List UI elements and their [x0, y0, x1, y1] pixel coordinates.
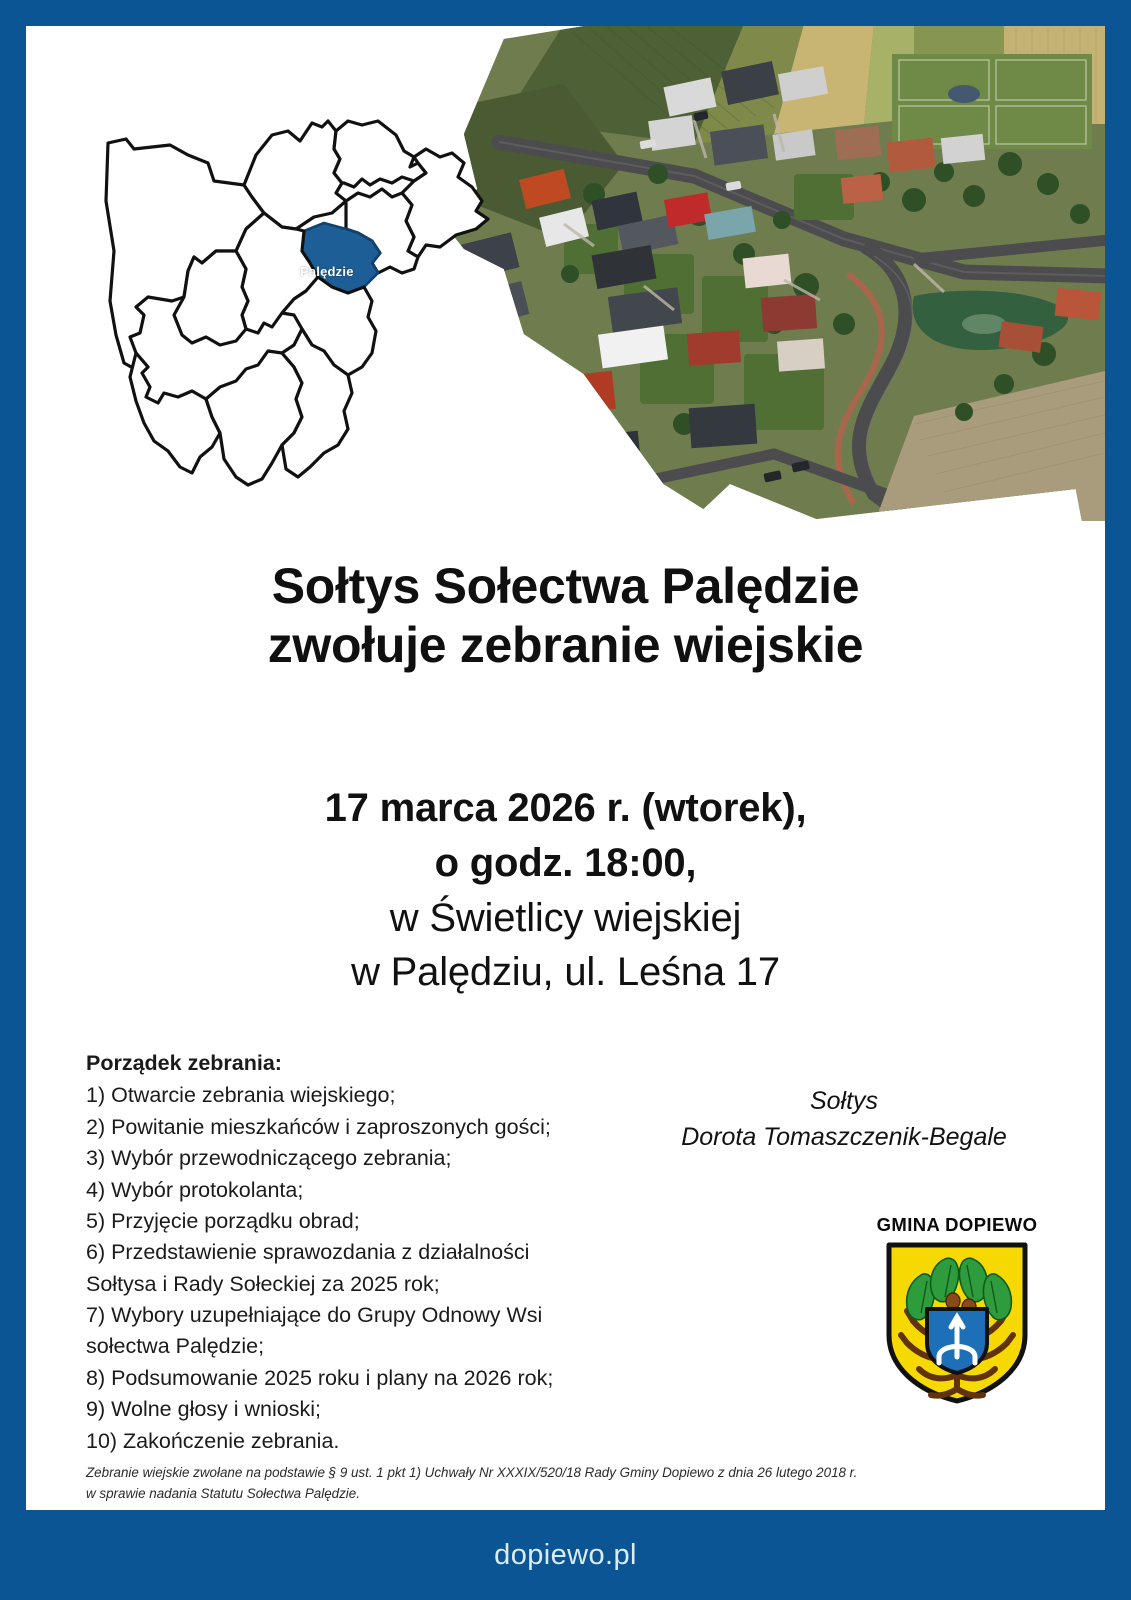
agenda-item: 10) Zakończenie zebrania.: [86, 1426, 616, 1457]
event-address: w Palędziu, ul. Leśna 17: [26, 945, 1105, 1000]
poster-sheet: Palędzie Sołtys Sołectwa Palędzie zwołuj…: [26, 26, 1105, 1510]
event-details: 17 marca 2026 r. (wtorek), o godz. 18:00…: [26, 781, 1105, 1000]
agenda-item: 9) Wolne głosy i wnioski;: [86, 1394, 616, 1425]
agenda-title: Porządek zebrania:: [86, 1048, 616, 1079]
signature-block: Sołtys Dorota Tomaszczenik-Begale: [624, 1084, 1064, 1155]
agenda-item: Sołtysa i Rady Sołeckiej za 2025 rok;: [86, 1269, 616, 1300]
agenda-block: Porządek zebrania: 1) Otwarcie zebrania …: [86, 1048, 616, 1457]
poster-root: Palędzie Sołtys Sołectwa Palędzie zwołuj…: [0, 0, 1131, 1600]
agenda-item: sołectwa Palędzie;: [86, 1331, 616, 1362]
aerial-photo-paledzie: [444, 26, 1105, 521]
signature-name: Dorota Tomaszczenik-Begale: [624, 1120, 1064, 1156]
legal-footnote-line2: w sprawie nadania Statutu Sołectwa Palęd…: [86, 1484, 1046, 1505]
footer-bar: dopiewo.pl: [0, 1510, 1131, 1600]
gmina-dopiewo-crest: GMINA DOPIEWO: [852, 1214, 1062, 1414]
coat-of-arms-icon: [881, 1239, 1033, 1407]
agenda-item: 7) Wybory uzupełniające do Grupy Odnowy …: [86, 1300, 616, 1331]
page-title-line1: Sołtys Sołectwa Palędzie: [26, 557, 1105, 616]
footer-website-url[interactable]: dopiewo.pl: [494, 1539, 637, 1572]
agenda-item: 2) Powitanie mieszkańców i zaproszonych …: [86, 1112, 616, 1143]
agenda-item: 4) Wybór protokolanta;: [86, 1175, 616, 1206]
agenda-list: 1) Otwarcie zebrania wiejskiego; 2) Powi…: [86, 1080, 616, 1457]
agenda-item: 8) Podsumowanie 2025 roku i plany na 202…: [86, 1363, 616, 1394]
page-title: Sołtys Sołectwa Palędzie zwołuje zebrani…: [26, 557, 1105, 674]
event-date: 17 marca 2026 r. (wtorek),: [26, 781, 1105, 836]
agenda-item: 5) Przyjęcie porządku obrad;: [86, 1206, 616, 1237]
crest-caption: GMINA DOPIEWO: [852, 1214, 1062, 1236]
agenda-item: 3) Wybór przewodniczącego zebrania;: [86, 1143, 616, 1174]
map-label-paledzie: Palędzie: [300, 264, 354, 279]
legal-footnote-line1: Zebranie wiejskie zwołane na podstawie §…: [86, 1463, 1046, 1484]
event-venue: w Świetlicy wiejskiej: [26, 891, 1105, 946]
event-time: o godz. 18:00,: [26, 836, 1105, 891]
top-media-area: Palędzie: [26, 26, 1105, 521]
legal-footnote: Zebranie wiejskie zwołane na podstawie §…: [86, 1463, 1046, 1505]
agenda-item: 1) Otwarcie zebrania wiejskiego;: [86, 1080, 616, 1111]
agenda-item: 6) Przedstawienie sprawozdania z działal…: [86, 1237, 616, 1268]
gmina-dopiewo-outline-map: Palędzie: [96, 101, 516, 501]
page-title-line2: zwołuje zebranie wiejskie: [26, 616, 1105, 675]
signature-role: Sołtys: [624, 1084, 1064, 1120]
